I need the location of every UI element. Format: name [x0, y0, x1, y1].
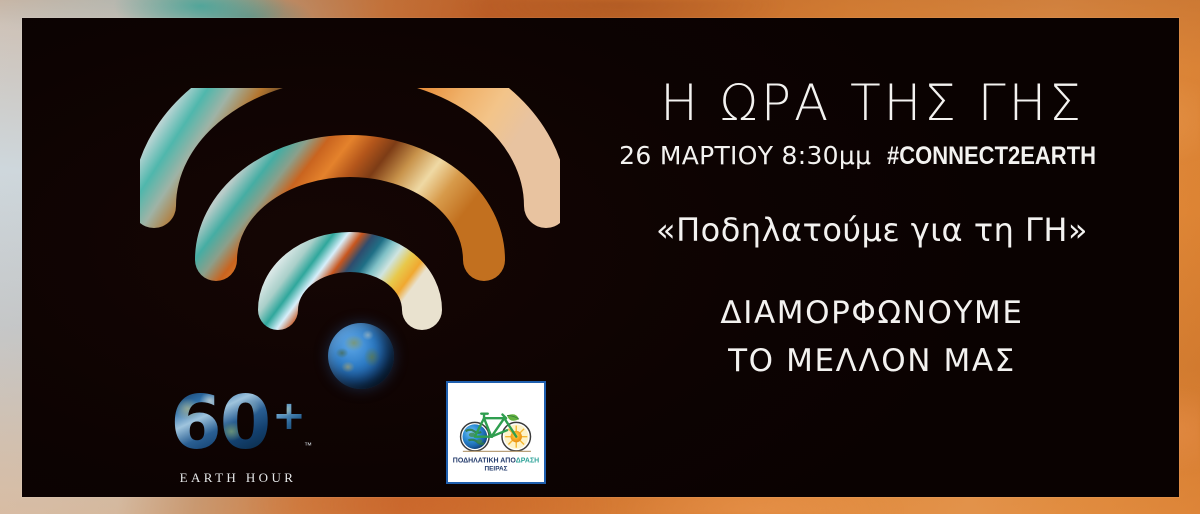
copy-column: Η ΩΡΑ ΤΗΣ ΓΗΣ 26 ΜΑΡΤΙΟΥ 8:30μμ #CONNECT…: [582, 78, 1162, 385]
earth-hour-plus: +: [272, 396, 306, 436]
poster-canvas: 60 + ™ EARTH HOUR: [0, 0, 1200, 514]
earth-hour-numerals: 60: [170, 388, 269, 458]
bike-logo-text-line-1: ΠΟΔΗΛΑΤΙΚΗ ΑΠΟΔΡΑΣΗ: [453, 457, 539, 464]
page-title: Η ΩΡΑ ΤΗΣ ΓΗΣ: [582, 78, 1162, 128]
campaign-tagline: ΔΙΑΜΟΡΦΩΝΟΥΜΕ ΤΟ ΜΕΛΛΟΝ ΜΑΣ: [582, 289, 1162, 385]
tagline-line-2: ΤΟ ΜΕΛΛΟΝ ΜΑΣ: [582, 337, 1162, 385]
trademark-symbol: ™: [304, 441, 312, 450]
tagline-line-1: ΔΙΑΜΟΡΦΩΝΟΥΜΕ: [582, 289, 1162, 337]
bike-logo-text-line-2: ΠΕΙΡΑΣ: [484, 466, 507, 473]
bicycle-club-logo: ΠΟΔΗΛΑΤΙΚΗ ΑΠΟΔΡΑΣΗ ΠΕΙΡΑΣ: [446, 381, 546, 484]
event-subline: 26 ΜΑΡΤΙΟΥ 8:30μμ #CONNECT2EARTH: [582, 141, 1162, 171]
earth-hour-60-plus-logo: 60 + ™ EARTH HOUR: [158, 378, 318, 493]
campaign-hashtag: #CONNECT2EARTH: [887, 142, 1096, 171]
black-content-panel: 60 + ™ EARTH HOUR: [22, 18, 1179, 497]
earth-hour-caption: EARTH HOUR: [158, 470, 318, 486]
wifi-signal-icon: [140, 88, 560, 338]
event-datetime: 26 ΜΑΡΤΙΟΥ 8:30μμ: [619, 141, 871, 170]
event-quote: «Ποδηλατούμε για τη ΓΗ»: [582, 211, 1162, 249]
earth-globe-icon: [328, 323, 394, 389]
